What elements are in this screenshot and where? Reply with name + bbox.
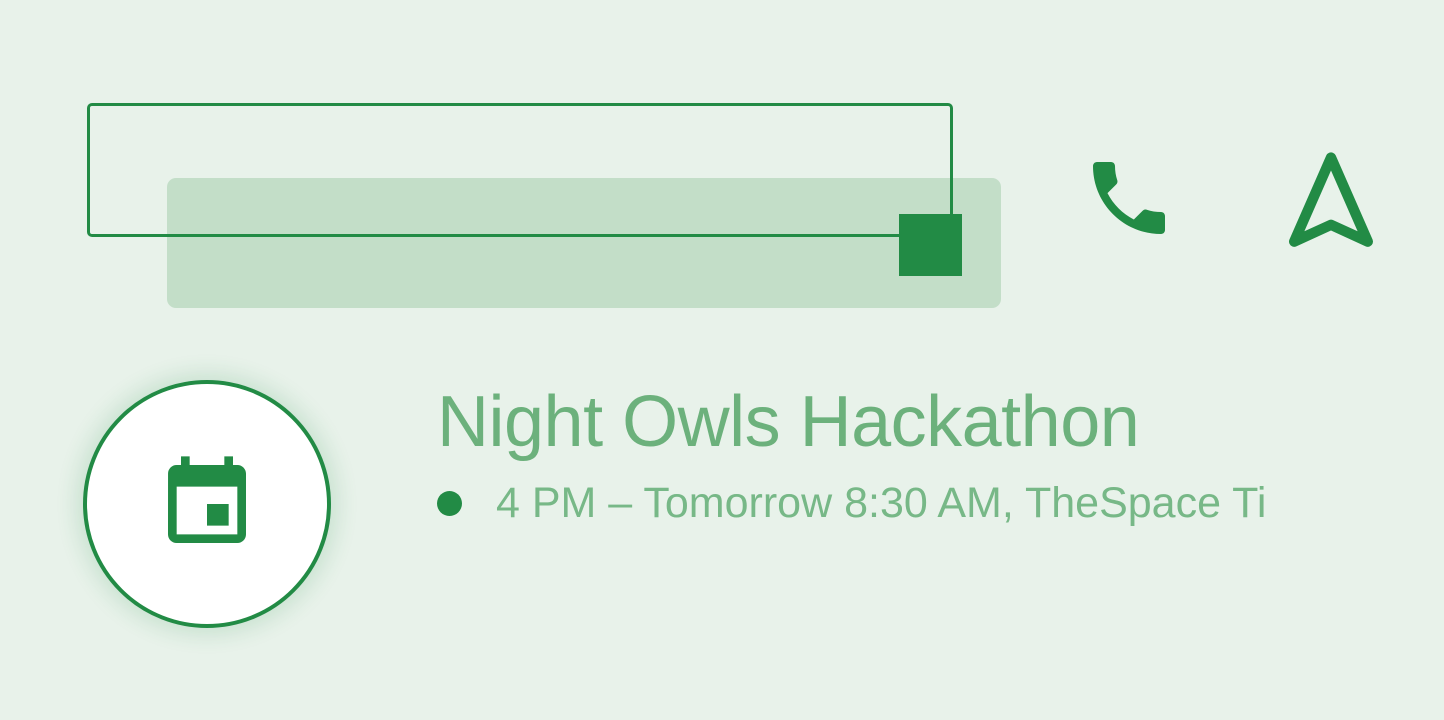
event-subtitle: 4 PM – Tomorrow 8:30 AM, TheSpace Ti xyxy=(462,476,1266,530)
status-dot-icon xyxy=(437,491,462,516)
progress-knob[interactable] xyxy=(899,214,962,276)
event-text-block: Night Owls Hackathon 4 PM – Tomorrow 8:3… xyxy=(437,372,1444,612)
event-card-screen: Night Owls Hackathon 4 PM – Tomorrow 8:3… xyxy=(0,0,1444,720)
event-row[interactable]: Night Owls Hackathon 4 PM – Tomorrow 8:3… xyxy=(0,372,1444,652)
event-subline: 4 PM – Tomorrow 8:30 AM, TheSpace Ti xyxy=(437,476,1266,530)
phone-icon[interactable] xyxy=(1081,150,1177,246)
page-title: Night Owls Hackathon xyxy=(437,380,1139,464)
navigation-arrow-icon[interactable] xyxy=(1283,148,1379,252)
progress-outline xyxy=(87,103,953,237)
avatar xyxy=(83,380,331,628)
graphic-area xyxy=(0,0,1444,360)
calendar-event-icon xyxy=(155,452,259,556)
